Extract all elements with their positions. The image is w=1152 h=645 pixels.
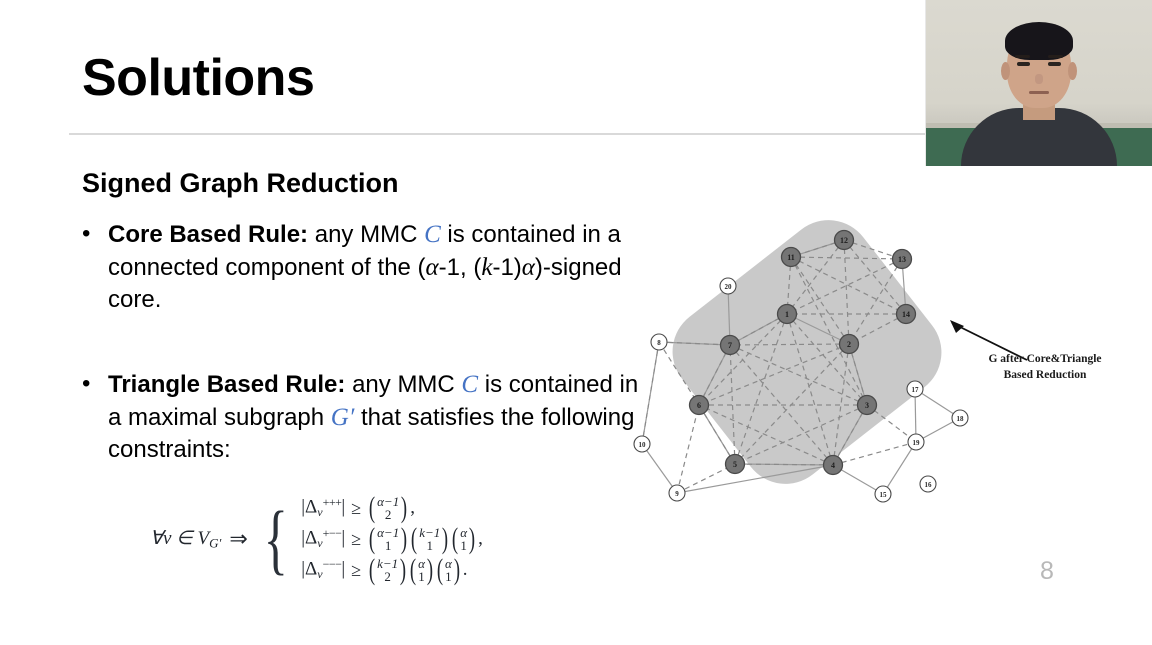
graph-node[interactable]: 6 (690, 396, 709, 415)
symbol-mmc-c: C (461, 371, 478, 398)
presenter-eye-left (1017, 62, 1030, 66)
bullet-text: Triangle Based Rule: any MMC C is contai… (108, 368, 642, 466)
graph-node[interactable]: 10 (634, 436, 650, 452)
quantifier-subscript: G′ (209, 535, 221, 550)
bullet-core-based-rule: • Core Based Rule: any MMC C is containe… (82, 218, 642, 316)
symbol-alpha-2: α (522, 254, 535, 281)
binomial-coefficient: (α1) (408, 557, 435, 583)
graph-node[interactable]: 8 (651, 334, 667, 350)
left-brace: { (263, 511, 291, 567)
graph-node[interactable]: 1 (778, 305, 797, 324)
binomial-coefficient: (α−12) (367, 495, 409, 521)
relation-operator: ≥ (345, 529, 367, 550)
formula-row: |Δv−−−|≥(k−12)(α1)(α1). (301, 557, 483, 583)
graph-node[interactable]: 2 (840, 335, 859, 354)
implies-arrow: ⇒ (227, 526, 255, 552)
graph-node-label: 2 (847, 340, 851, 349)
annotation-arrow-head (950, 320, 964, 333)
constraint-formula: ∀v ∈ VG′ ⇒ { |Δv+++|≥(α−12),|Δv+−−|≥(α−1… (150, 495, 483, 583)
formula-row-lhs: |Δv−−−| (301, 557, 345, 582)
binomial-coefficient: (α1) (450, 526, 477, 552)
bullet-lead: Triangle Based Rule: (108, 371, 345, 398)
bullet-part-d: -1) (492, 254, 521, 281)
bullet-text: Core Based Rule: any MMC C is contained … (108, 218, 642, 316)
graph-node-label: 11 (787, 253, 795, 262)
formula-row: |Δv+++|≥(α−12), (301, 495, 483, 521)
graph-node[interactable]: 14 (897, 305, 916, 324)
graph-node[interactable]: 5 (726, 455, 745, 474)
graph-edge-solid (642, 342, 659, 444)
graph-node-label: 7 (728, 341, 732, 350)
presenter-brow-left (1015, 55, 1030, 58)
graph-node[interactable]: 7 (721, 336, 740, 355)
presenter-brow-right (1048, 55, 1063, 58)
binomial-coefficient: (k−11) (409, 526, 450, 552)
page-title: Solutions (82, 52, 314, 104)
symbol-k: k (481, 254, 492, 281)
graph-node-label: 3 (865, 401, 869, 410)
formula-rows: |Δv+++|≥(α−12),|Δv+−−|≥(α−11)(k−11)(α1),… (299, 495, 483, 583)
formula-row-lhs: |Δv+++| (301, 495, 345, 520)
caption-line-1: G after Core&Triangle (960, 352, 1130, 368)
presentation-slide: Solutions Signed Graph Reduction • Core … (0, 0, 1152, 645)
bullet-marker: • (82, 368, 90, 400)
section-heading: Signed Graph Reduction (82, 169, 399, 199)
graph-node-label: 1 (785, 310, 789, 319)
graph-node-label: 4 (831, 461, 835, 470)
graph-node[interactable]: 15 (875, 486, 891, 502)
row-terminator: , (477, 528, 483, 550)
bullet-marker: • (82, 218, 90, 250)
shaded-core-region (655, 202, 959, 501)
graph-node-label: 6 (697, 401, 701, 410)
graph-node-label: 15 (880, 491, 888, 499)
formula-quantifier: ∀v ∈ VG′ (150, 527, 227, 552)
graph-node[interactable]: 4 (824, 456, 843, 475)
shaded-region-shape (655, 202, 959, 501)
binomial-coefficient: (α1) (435, 557, 462, 583)
figure-caption: G after Core&Triangle Based Reduction (960, 352, 1130, 383)
graph-node[interactable]: 11 (782, 248, 801, 267)
graph-node[interactable]: 9 (669, 485, 685, 501)
row-terminator: . (462, 559, 468, 581)
page-number: 8 (1040, 557, 1054, 586)
bullet-lead: Core Based Rule: (108, 221, 308, 248)
bullet-part-a: any MMC (308, 221, 424, 248)
graph-edge-dashed (677, 405, 699, 493)
presenter-mouth (1029, 91, 1049, 94)
bullet-part-c: -1, ( (439, 254, 482, 281)
relation-operator: ≥ (345, 498, 367, 519)
symbol-mmc-c: C (424, 221, 441, 248)
presenter-eye-right (1048, 62, 1061, 66)
graph-node[interactable]: 18 (952, 410, 968, 426)
formula-row: |Δv+−−|≥(α−11)(k−11)(α1), (301, 526, 483, 552)
graph-node-label: 10 (639, 441, 647, 449)
formula-row-lhs: |Δv+−−| (301, 526, 345, 551)
bullet-triangle-based-rule: • Triangle Based Rule: any MMC C is cont… (82, 368, 642, 466)
row-terminator: , (409, 497, 415, 519)
graph-node-label: 12 (840, 236, 848, 245)
relation-operator: ≥ (345, 560, 367, 581)
presenter-ear-left (1001, 62, 1010, 80)
graph-node[interactable]: 12 (835, 231, 854, 250)
graph-node-label: 14 (902, 310, 910, 319)
graph-node[interactable]: 16 (920, 476, 936, 492)
graph-node[interactable]: 13 (893, 250, 912, 269)
graph-node[interactable]: 19 (908, 434, 924, 450)
presenter-nose (1035, 74, 1043, 84)
quantifier-text: ∀v ∈ V (150, 528, 209, 549)
symbol-g-prime: G′ (331, 404, 355, 431)
graph-node-label: 5 (733, 460, 737, 469)
caption-line-2: Based Reduction (960, 368, 1130, 384)
webcam-video-overlay[interactable] (925, 0, 1152, 166)
graph-node[interactable]: 17 (907, 381, 923, 397)
graph-node-label: 16 (925, 481, 933, 489)
graph-edge-solid (642, 444, 677, 493)
presenter-ear-right (1068, 62, 1077, 80)
graph-node-label: 9 (675, 490, 679, 498)
binomial-coefficient: (α−11) (367, 526, 409, 552)
graph-node-label: 19 (913, 439, 921, 447)
symbol-alpha-1: α (426, 254, 439, 281)
binomial-coefficient: (k−12) (367, 557, 408, 583)
graph-node-label: 17 (912, 386, 920, 394)
graph-node-label: 13 (898, 255, 906, 264)
graph-node-label: 20 (725, 283, 733, 291)
graph-node[interactable]: 20 (720, 278, 736, 294)
graph-node[interactable]: 3 (858, 396, 877, 415)
graph-node-label: 8 (657, 339, 661, 347)
bullet-part-a: any MMC (345, 371, 461, 398)
graph-node-label: 18 (957, 415, 965, 423)
